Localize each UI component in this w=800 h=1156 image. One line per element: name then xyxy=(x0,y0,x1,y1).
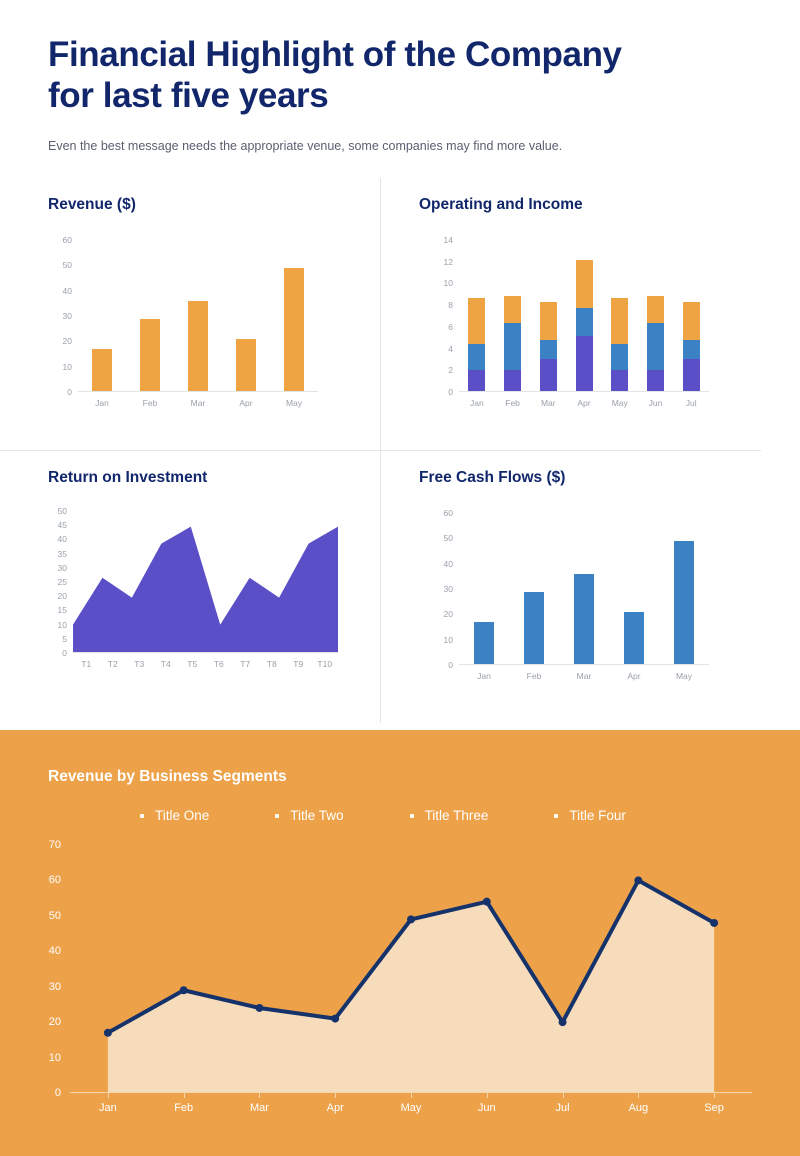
x-axis-tick-label: Jan xyxy=(78,398,126,408)
bar-slot xyxy=(609,513,659,665)
y-axis-tick: 20 xyxy=(58,591,67,601)
stacked-bar xyxy=(611,298,628,392)
bar-segment xyxy=(611,370,628,392)
legend-bullet-icon xyxy=(410,814,414,818)
chart-revenue-by-segments: JanFebMarAprMayJunJulAugSep 010203040506… xyxy=(70,845,752,1093)
chart-card-roi: Return on Investment T1T2T3T4T5T6T7T8T9T… xyxy=(0,451,380,723)
bar-segment xyxy=(647,370,664,392)
bar-segment xyxy=(504,370,521,392)
x-axis-tick-label: May xyxy=(373,1102,449,1114)
x-axis-tick-label: T8 xyxy=(259,659,286,669)
y-axis-tick: 6 xyxy=(448,322,453,332)
y-axis-tick: 30 xyxy=(63,311,72,321)
bar-slot xyxy=(559,513,609,665)
y-axis-tick: 0 xyxy=(448,660,453,670)
y-axis-tick: 50 xyxy=(49,910,61,922)
y-axis-tick: 20 xyxy=(63,336,72,346)
x-axis-tick-label: Aug xyxy=(600,1102,676,1114)
y-axis-tick: 20 xyxy=(49,1016,61,1028)
y-axis-tick: 45 xyxy=(58,520,67,530)
y-axis-tick: 20 xyxy=(444,609,453,619)
stacked-bar xyxy=(576,260,593,392)
x-axis-tick-label: Jun xyxy=(449,1102,525,1114)
plot-area xyxy=(78,240,318,392)
y-axis-tick: 60 xyxy=(63,235,72,245)
bar xyxy=(188,301,208,392)
chart-legend: Title OneTitle TwoTitle ThreeTitle Four xyxy=(0,786,800,823)
stacked-bar xyxy=(468,298,485,392)
x-axis-tick-label: Jan xyxy=(459,671,509,681)
y-axis-tick: 40 xyxy=(58,534,67,544)
y-axis-tick: 40 xyxy=(63,286,72,296)
bar-segment xyxy=(504,296,521,322)
bar xyxy=(674,541,694,665)
bar-segment xyxy=(468,344,485,370)
bar-segment xyxy=(540,359,557,392)
legend-item[interactable]: Title Three xyxy=(410,808,489,823)
y-axis-tick: 10 xyxy=(444,278,453,288)
bar-group xyxy=(78,240,318,392)
stacked-bar xyxy=(647,296,664,392)
bar-segment xyxy=(611,298,628,345)
x-axis-tick-label: T5 xyxy=(179,659,206,669)
bar-segment xyxy=(468,298,485,345)
bar xyxy=(140,319,160,392)
bar-slot xyxy=(495,240,531,392)
x-axis-tick-label: T6 xyxy=(206,659,233,669)
page-header: Financial Highlight of the Company for l… xyxy=(0,0,800,155)
bar-slot xyxy=(222,240,270,392)
x-axis-tick-label: T9 xyxy=(285,659,312,669)
bar xyxy=(474,622,494,665)
y-axis-tick: 0 xyxy=(448,387,453,397)
legend-label: Title Two xyxy=(290,808,343,823)
bar-segment xyxy=(576,308,593,335)
chart-card-operating-income: Operating and Income JanFebMarAprMayJunJ… xyxy=(381,178,761,450)
x-axis-labels: JanFebMarAprMayJunJulAugSep xyxy=(70,1093,752,1114)
y-axis-tick: 40 xyxy=(49,945,61,957)
legend-item[interactable]: Title Two xyxy=(275,808,343,823)
x-axis-tick-label: Feb xyxy=(146,1102,222,1114)
y-axis-tick: 30 xyxy=(49,981,61,993)
stacked-bar xyxy=(683,302,700,392)
page-title: Financial Highlight of the Company for l… xyxy=(48,34,752,117)
y-axis-tick: 30 xyxy=(444,584,453,594)
bar-slot xyxy=(566,240,602,392)
y-axis-tick: 70 xyxy=(49,839,61,851)
area-series xyxy=(70,845,752,1093)
x-axis-tick-label: T7 xyxy=(232,659,259,669)
chart-title-revenue: Revenue ($) xyxy=(48,196,354,214)
y-axis-tick: 5 xyxy=(62,634,67,644)
bar-segment xyxy=(611,344,628,370)
bar-segment xyxy=(540,302,557,340)
chart-title-operating-income: Operating and Income xyxy=(419,196,735,214)
bar-slot xyxy=(459,240,495,392)
bar xyxy=(236,339,256,392)
x-axis-labels: JanFebMarAprMay xyxy=(78,392,318,408)
bar-slot xyxy=(638,240,674,392)
bar xyxy=(624,612,644,665)
x-axis-tick-label: Sep xyxy=(676,1102,752,1114)
y-axis-tick: 10 xyxy=(444,635,453,645)
chart-revenue: JanFebMarAprMay 0102030405060 xyxy=(78,240,318,392)
y-axis-tick: 50 xyxy=(444,533,453,543)
bar-segment xyxy=(540,340,557,360)
x-axis-tick-label: Jul xyxy=(525,1102,601,1114)
y-axis-tick: 0 xyxy=(55,1087,61,1099)
x-axis-tick-label: Jan xyxy=(459,398,495,408)
y-axis-tick: 30 xyxy=(58,563,67,573)
page-subtitle: Even the best message needs the appropri… xyxy=(48,138,752,156)
chart-operating-income: JanFebMarAprMayJunJul 02468101214 xyxy=(459,240,709,392)
y-axis-tick: 60 xyxy=(49,874,61,886)
y-axis-tick: 50 xyxy=(58,506,67,516)
y-axis-tick: 0 xyxy=(67,387,72,397)
y-axis-tick: 10 xyxy=(58,620,67,630)
chart-title-roi: Return on Investment xyxy=(48,469,354,487)
x-axis-tick-label: T1 xyxy=(73,659,100,669)
chart-card-revenue: Revenue ($) JanFebMarAprMay 010203040506… xyxy=(0,178,380,450)
bar-slot xyxy=(673,240,709,392)
bar-segment xyxy=(647,323,664,371)
y-axis-tick: 12 xyxy=(444,257,453,267)
x-axis-tick-label: Jul xyxy=(673,398,709,408)
chart-free-cash-flows: JanFebMarAprMay 0102030405060 xyxy=(459,513,709,665)
y-axis-tick: 10 xyxy=(63,362,72,372)
y-axis-tick: 40 xyxy=(444,559,453,569)
chart-card-free-cash-flows: Free Cash Flows ($) JanFebMarAprMay 0102… xyxy=(381,451,761,723)
x-axis-tick-label: Feb xyxy=(495,398,531,408)
plot-area xyxy=(459,240,709,392)
y-axis-tick: 2 xyxy=(448,365,453,375)
x-axis-tick-label: T10 xyxy=(312,659,339,669)
legend-item[interactable]: Title Four xyxy=(554,808,626,823)
bar xyxy=(284,268,304,392)
y-axis-tick: 35 xyxy=(58,549,67,559)
bar-segment xyxy=(576,336,593,392)
x-axis-labels: JanFebMarAprMayJunJul xyxy=(459,392,709,408)
x-axis-tick-label: Apr xyxy=(222,398,270,408)
x-axis-tick-label: May xyxy=(602,398,638,408)
area-series xyxy=(73,511,338,653)
bar-segment xyxy=(576,260,593,309)
x-axis-tick-label: Feb xyxy=(126,398,174,408)
y-axis-tick: 10 xyxy=(49,1052,61,1064)
y-axis-tick: 14 xyxy=(444,235,453,245)
stacked-bar xyxy=(540,302,557,392)
legend-label: Title One xyxy=(155,808,209,823)
bar xyxy=(574,574,594,665)
x-axis-labels: T1T2T3T4T5T6T7T8T9T10 xyxy=(73,653,338,669)
bar-segment xyxy=(468,370,485,392)
bar-slot xyxy=(659,513,709,665)
legend-bullet-icon xyxy=(140,814,144,818)
charts-grid: Revenue ($) JanFebMarAprMay 010203040506… xyxy=(0,178,800,730)
y-axis-tick: 8 xyxy=(448,300,453,310)
bar-slot xyxy=(270,240,318,392)
bar xyxy=(524,592,544,665)
bar-segment xyxy=(647,296,664,322)
bar-slot xyxy=(509,513,559,665)
bar-segment xyxy=(504,323,521,371)
legend-label: Title Four xyxy=(569,808,626,823)
plot-area xyxy=(70,845,752,1093)
x-axis-tick-label: Mar xyxy=(222,1102,298,1114)
bar-slot xyxy=(78,240,126,392)
bar xyxy=(92,349,112,392)
plot-area xyxy=(459,513,709,665)
legend-item[interactable]: Title One xyxy=(140,808,209,823)
bar-slot xyxy=(602,240,638,392)
y-axis-tick: 0 xyxy=(62,648,67,658)
x-axis-tick-label: May xyxy=(659,671,709,681)
y-axis-tick: 15 xyxy=(58,605,67,615)
bar-slot xyxy=(126,240,174,392)
x-axis-tick-label: May xyxy=(270,398,318,408)
x-axis-tick-label: T2 xyxy=(100,659,127,669)
bar-segment xyxy=(683,340,700,360)
panel-title: Revenue by Business Segments xyxy=(0,730,800,786)
bar-slot xyxy=(174,240,222,392)
y-axis-tick: 50 xyxy=(63,260,72,270)
plot-area xyxy=(73,511,338,653)
bar-group xyxy=(459,513,709,665)
chart-title-free-cash-flows: Free Cash Flows ($) xyxy=(419,469,735,487)
bar-slot xyxy=(530,240,566,392)
y-axis-tick: 60 xyxy=(444,508,453,518)
y-axis-tick: 25 xyxy=(58,577,67,587)
x-axis-tick-label: Apr xyxy=(566,398,602,408)
bar-segment xyxy=(683,359,700,392)
x-axis-labels: JanFebMarAprMay xyxy=(459,665,709,681)
x-axis-tick-label: Jan xyxy=(70,1102,146,1114)
x-axis-tick-label: T3 xyxy=(126,659,153,669)
revenue-segments-panel: Revenue by Business Segments Title OneTi… xyxy=(0,730,800,1156)
x-axis-tick-label: Mar xyxy=(559,671,609,681)
x-axis-tick-label: Feb xyxy=(509,671,559,681)
x-axis-tick-label: Mar xyxy=(530,398,566,408)
chart-roi: T1T2T3T4T5T6T7T8T9T10 051015202530354045… xyxy=(73,511,338,653)
x-axis-tick-label: T4 xyxy=(153,659,180,669)
stacked-bar xyxy=(504,296,521,392)
legend-label: Title Three xyxy=(425,808,489,823)
legend-bullet-icon xyxy=(554,814,558,818)
x-axis-tick-label: Jun xyxy=(638,398,674,408)
bar-segment xyxy=(683,302,700,340)
x-axis-tick-label: Apr xyxy=(297,1102,373,1114)
bar-slot xyxy=(459,513,509,665)
x-axis-tick-label: Apr xyxy=(609,671,659,681)
bar-group xyxy=(459,240,709,392)
legend-bullet-icon xyxy=(275,814,279,818)
x-axis-tick-label: Mar xyxy=(174,398,222,408)
y-axis-tick: 4 xyxy=(448,344,453,354)
